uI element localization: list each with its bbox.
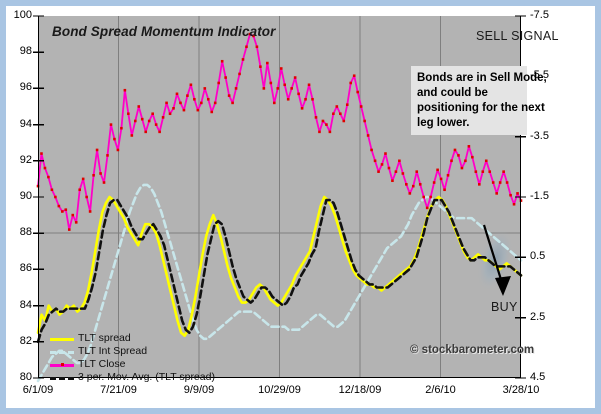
legend-label: 3 per. Mov. Avg. (TLT spread)	[78, 372, 215, 383]
y-right-tick-2-5: 2.5	[530, 311, 545, 323]
y-left-tick-92: 92	[6, 154, 32, 166]
y-left-tick-96: 96	[6, 81, 32, 93]
legend-swatch-3-per-mov-avg-tlt-spread	[50, 372, 74, 383]
x-tick-3-28-10: 3/28/10	[486, 384, 556, 396]
y-right-tick-0-5: 0.5	[530, 250, 545, 262]
y-right-tick-4-5: 4.5	[530, 371, 545, 383]
buy-label: BUY	[491, 300, 518, 314]
callout-line-3: positioning for the next	[417, 101, 521, 116]
callout-box: Bonds are in Sell Mode, and could be pos…	[411, 66, 527, 135]
legend-item[interactable]: 3 per. Mov. Avg. (TLT spread)	[50, 371, 215, 384]
watermark: © stockbarometer.com	[410, 344, 534, 356]
x-tick-2-6-10: 2/6/10	[406, 384, 476, 396]
y-left-tick-88: 88	[6, 226, 32, 238]
callout-line-2: and could be	[417, 86, 521, 101]
y-left-tick-94: 94	[6, 118, 32, 130]
y-right-tick--7-5: -7.5	[530, 9, 549, 21]
y-left-tick-98: 98	[6, 45, 32, 57]
sell-signal-label: SELL SIGNAL	[476, 29, 559, 43]
page-title: Bond Spread Momentum Indicator	[52, 24, 276, 39]
legend-label: TLT Int Spread	[78, 346, 147, 357]
legend-swatch-tlt-spread	[50, 333, 74, 344]
y-left-tick-82: 82	[6, 335, 32, 347]
legend-item[interactable]: TLT Close	[50, 358, 215, 371]
legend-label: TLT spread	[78, 333, 131, 344]
legend: TLT spreadTLT Int SpreadTLT Close3 per. …	[50, 332, 215, 384]
y-left-tick-86: 86	[6, 262, 32, 274]
y-right-tick--3-5: -3.5	[530, 130, 549, 142]
y-left-tick-100: 100	[6, 9, 32, 21]
x-tick-7-21-09: 7/21/09	[84, 384, 154, 396]
x-tick-6-1-09: 6/1/09	[3, 384, 73, 396]
chart-frame: Bond Spread Momentum Indicator SELL SIGN…	[0, 0, 601, 414]
y-left-tick-90: 90	[6, 190, 32, 202]
legend-swatch-tlt-int-spread	[50, 346, 74, 357]
x-tick-10-29-09: 10/29/09	[245, 384, 315, 396]
legend-marker-dot	[61, 363, 64, 366]
callout-line-1: Bonds are in Sell Mode,	[417, 71, 521, 86]
legend-item[interactable]: TLT spread	[50, 332, 215, 345]
legend-label: TLT Close	[78, 359, 125, 370]
y-left-tick-80: 80	[6, 371, 32, 383]
y-right-tick--5-5: -5.5	[530, 69, 549, 81]
x-tick-12-18-09: 12/18/09	[325, 384, 395, 396]
callout-line-4: leg lower.	[417, 116, 521, 131]
legend-swatch-tlt-close	[50, 359, 74, 370]
y-right-tick--1-5: -1.5	[530, 190, 549, 202]
legend-item[interactable]: TLT Int Spread	[50, 345, 215, 358]
y-left-tick-84: 84	[6, 299, 32, 311]
x-tick-9-9-09: 9/9/09	[164, 384, 234, 396]
